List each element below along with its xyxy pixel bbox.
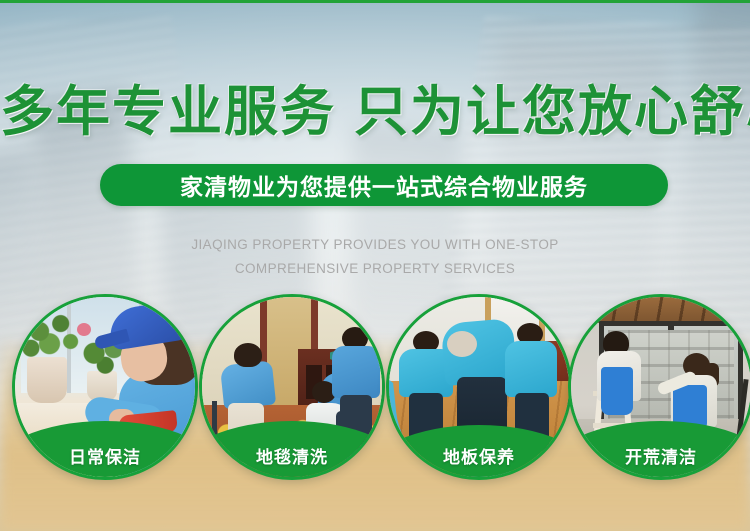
service-label-post-construction-cleaning: 开荒清洁 [571,443,750,468]
flower-shape [77,323,91,336]
service-label-carpet-cleaning: 地毯清洗 [202,443,382,468]
promo-banner: 多年专业服务只为让您放心舒心 家清物业为您提供一站式综合物业服务 JIAQING… [0,0,750,531]
english-subtitle-line-1: JIAQING PROPERTY PROVIDES YOU WITH ONE-S… [0,233,750,257]
blue-apron-shape [601,367,633,415]
ceiling-beams-shape [571,297,750,323]
english-subtitle-line-2: COMPREHENSIVE PROPERTY SERVICES [0,257,750,281]
uniform-shirt-shape [332,346,380,398]
english-subtitle: JIAQING PROPERTY PROVIDES YOU WITH ONE-S… [0,233,750,281]
top-accent-rule [0,0,750,3]
service-circle-post-construction-cleaning[interactable]: 开荒清洁 [568,294,750,480]
headline-part-2: 只为让您放心舒心 [354,80,750,143]
service-circle-carpet-cleaning[interactable]: 地毯清洗 [199,294,385,480]
headline: 多年专业服务只为让您放心舒心 [0,82,750,142]
subheadline-pill-text: 家清物业为您提供一站式综合物业服务 [180,168,588,202]
subheadline-pill: 家清物业为您提供一站式综合物业服务 [100,164,668,206]
service-circle-floor-maintenance[interactable]: 地板保养 [386,294,572,480]
uniform-shirt-shape [505,341,557,397]
headline-part-1: 多年专业服务 [0,80,336,143]
service-circle-list: 日常保洁 [0,294,750,484]
service-circle-daily-cleaning[interactable]: 日常保洁 [12,294,198,480]
service-label-daily-cleaning: 日常保洁 [15,443,195,468]
service-label-floor-maintenance: 地板保养 [389,443,569,468]
head-shape [447,331,477,357]
cleaner-figure [595,331,645,435]
head-shape [234,343,262,367]
